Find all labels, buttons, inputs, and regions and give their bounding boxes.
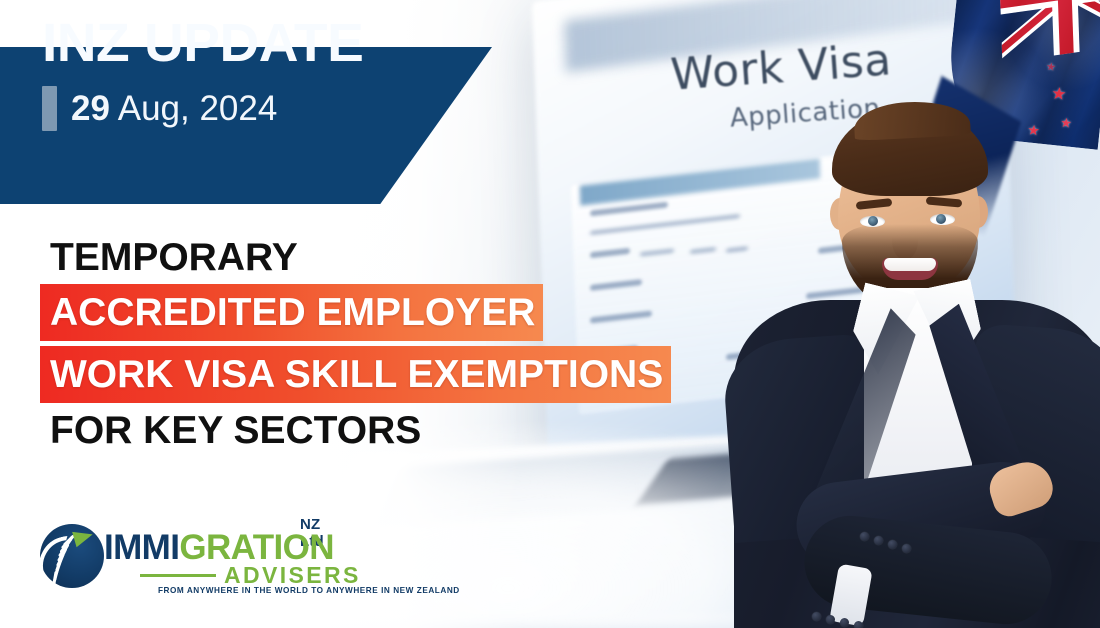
headline-line-4: FOR KEY SECTORS — [50, 409, 421, 452]
logo-advisers-word: ADVISERS — [224, 564, 361, 587]
date-accent-bar — [42, 86, 57, 131]
businessman-portrait — [742, 92, 1100, 628]
hair-quiff — [853, 99, 971, 141]
headline-line-3-highlighted: WORK VISA SKILL EXEMPTIONS — [40, 346, 671, 403]
banner-date-row: 29 Aug, 2024 — [42, 86, 277, 131]
date-month-year: Aug, 2024 — [110, 89, 277, 128]
logo-advisers-row: ADVISERS — [140, 564, 361, 587]
mouth — [882, 258, 938, 280]
headline-row-3: WORK VISA SKILL EXEMPTIONS — [50, 346, 671, 403]
sleeve-button — [826, 615, 835, 624]
immigration-advisers-logo[interactable]: NZ Ltd IMMIGRATION ADVISERS FROM ANYWHER… — [38, 512, 338, 598]
logo-emblem-icon — [38, 522, 110, 590]
headline-line-2-highlighted: ACCREDITED EMPLOYER — [40, 284, 543, 341]
sleeve-button — [874, 536, 883, 545]
banner-date: 29 Aug, 2024 — [71, 91, 277, 126]
sleeve-button — [840, 618, 849, 627]
headline-block: TEMPORARY ACCREDITED EMPLOYER WORK VISA … — [50, 238, 671, 450]
headline-line-1: TEMPORARY — [50, 236, 298, 279]
logo-tagline: FROM ANYWHERE IN THE WORLD TO ANYWHERE I… — [158, 586, 460, 595]
sleeve-button — [902, 544, 911, 553]
sleeve-button — [888, 540, 897, 549]
headline-row-1: TEMPORARY — [50, 238, 671, 277]
sleeve-button — [860, 532, 869, 541]
date-day: 29 — [71, 89, 110, 128]
banner-title: INZ UPDATE — [42, 16, 363, 70]
headline-row-2: ACCREDITED EMPLOYER — [50, 284, 671, 341]
logo-immi: IMMI — [104, 528, 179, 567]
sleeve-button — [812, 612, 821, 621]
iris-right — [936, 214, 946, 224]
teeth — [884, 258, 936, 271]
headline-row-4: FOR KEY SECTORS — [50, 411, 671, 450]
promo-banner-canvas: Work Visa Application — [0, 0, 1100, 628]
sleeve-button — [854, 621, 863, 628]
logo-immigration-word: IMMIGRATION — [104, 530, 334, 565]
logo-rule — [140, 574, 216, 577]
